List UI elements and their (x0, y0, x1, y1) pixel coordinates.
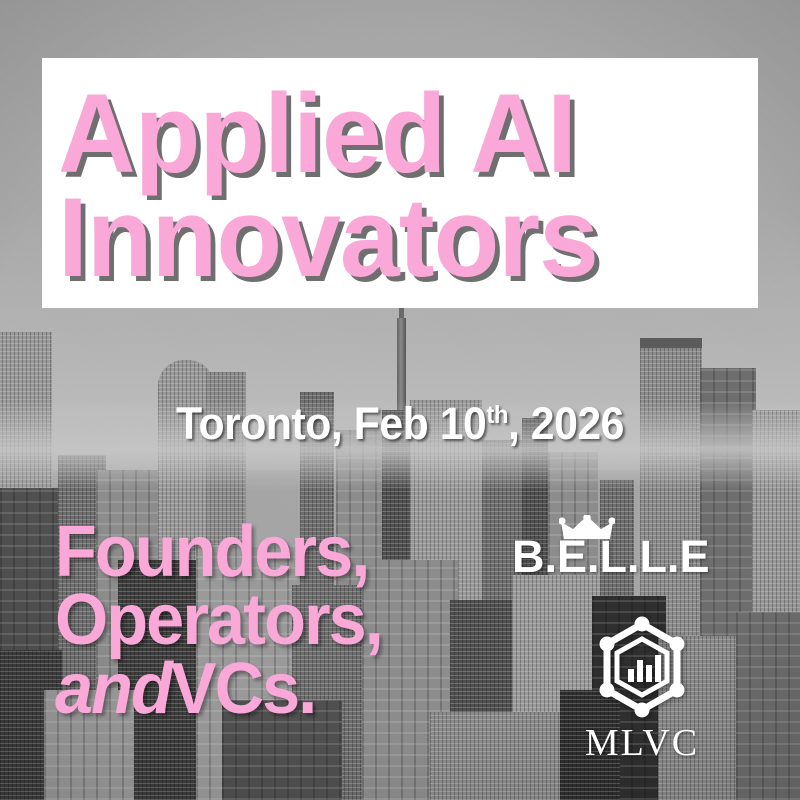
headline-line-2: Innovators (58, 186, 598, 290)
belle-logo: B.E.L.L.E (512, 534, 710, 579)
event-dateline: Toronto, Feb 10th, 2026 (20, 398, 780, 450)
headline-line-1: Applied AI (58, 82, 576, 186)
audience-line-2: Operators, (55, 586, 382, 654)
crown-icon (559, 515, 615, 546)
mlvc-logo: MLVC (580, 612, 704, 762)
audience-line-1: Founders, (55, 518, 382, 586)
dateline-city: Toronto, Feb 10 (176, 398, 486, 449)
page-title: Applied AI Innovators (42, 46, 758, 326)
event-poster: Applied AI Innovators Toronto, Feb 10th,… (0, 0, 800, 800)
audience-line-3-italic: and (55, 649, 171, 729)
dateline-ordinal: th (486, 401, 508, 429)
audience-line-3: andVCs. (55, 655, 382, 723)
dateline-year: , 2026 (508, 398, 624, 449)
audience-tagline: Founders, Operators, andVCs. (55, 518, 382, 723)
mlvc-wordmark: MLVC (580, 724, 704, 762)
audience-line-3-rest: VCs. (171, 649, 315, 729)
hexagon-network-barchart-icon (587, 612, 697, 722)
